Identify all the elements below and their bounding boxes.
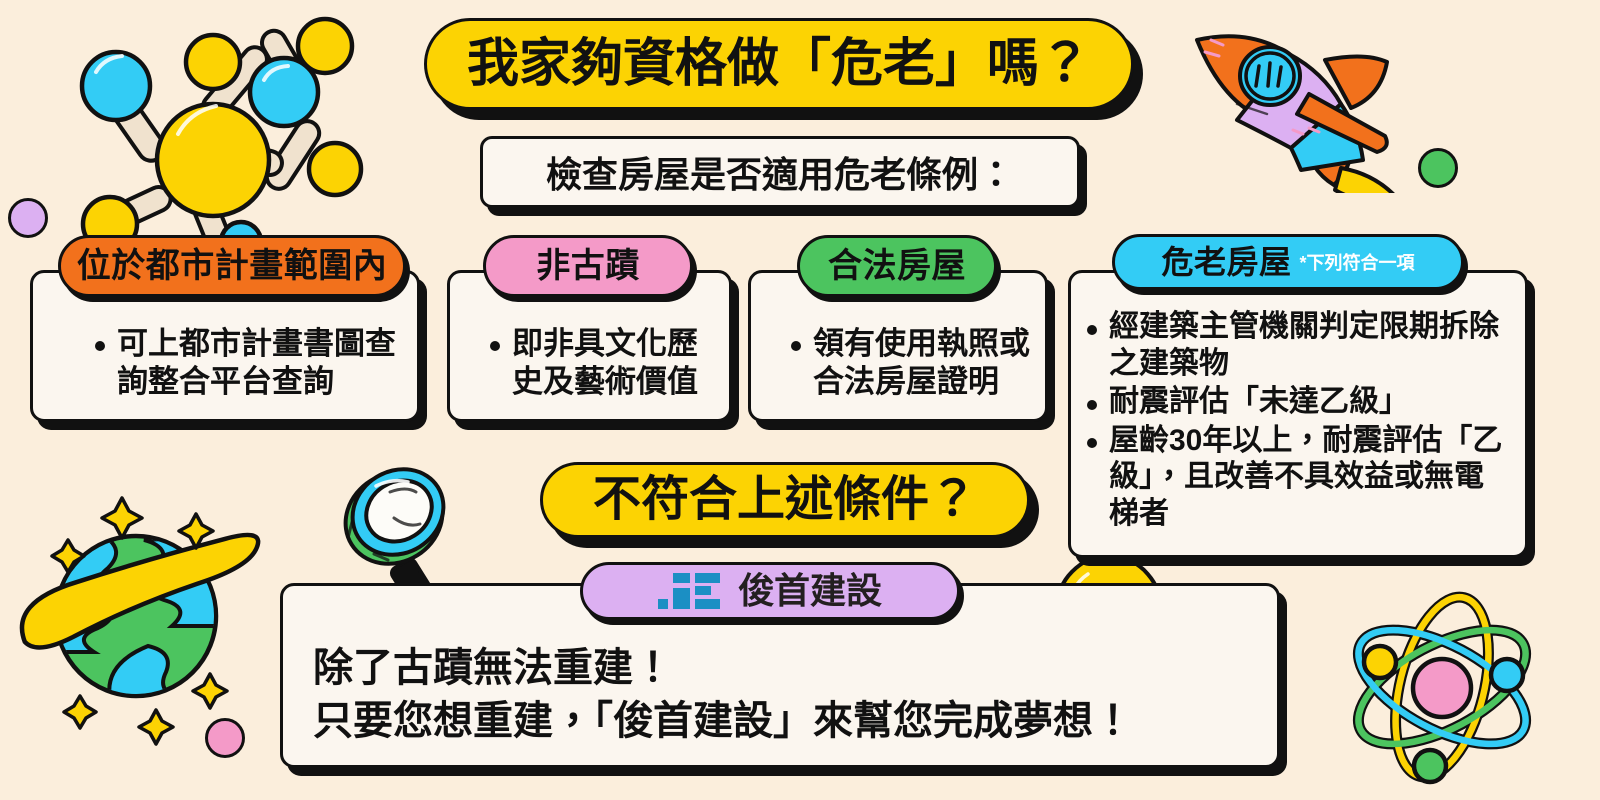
criteria-chip-urban-plan: 位於都市計畫範圍內 (58, 235, 406, 297)
page-title: 我家夠資格做「危老」嗎？ (467, 38, 1091, 90)
criteria-bullet-list: 經建築主管機關判定限期拆除之建築物 耐震評估「未達乙級」 屋齡30年以上，耐震評… (1079, 309, 1511, 533)
criteria-label: 位於都市計畫範圍內 (77, 249, 388, 283)
rocket-illustration (1175, 8, 1400, 193)
list-item: 經建築主管機關判定限期拆除之建築物 (1079, 309, 1511, 382)
green-dot (1418, 148, 1458, 188)
infographic-canvas: 我家夠資格做「危老」嗎？ 檢查房屋是否適用危老條例： 可上都市計畫書圖查詢整合平… (0, 0, 1600, 800)
criteria-note: *下列符合一項 (1300, 249, 1415, 275)
closing-line-1: 除了古蹟無法重建！ (313, 642, 1277, 695)
purple-dot (8, 198, 48, 238)
criteria-chip-not-heritage: 非古蹟 (483, 235, 693, 297)
page-title-banner: 我家夠資格做「危老」嗎？ (424, 18, 1134, 110)
subtitle-text: 檢查房屋是否適用危老條例： (546, 146, 1014, 198)
junshou-logo-icon (658, 573, 720, 609)
cta-question: 不符合上述條件？ (593, 476, 977, 524)
criteria-card-dangerous-old: 經建築主管機關判定限期拆除之建築物 耐震評估「未達乙級」 屋齡30年以上，耐震評… (1068, 270, 1528, 558)
list-item: 可上都市計畫書圖查詢整合平台查詢 (87, 325, 403, 401)
subtitle-box: 檢查房屋是否適用危老條例： (480, 136, 1080, 208)
criteria-bullet-list: 可上都市計畫書圖查詢整合平台查詢 (39, 325, 403, 401)
atom-illustration (1332, 582, 1597, 800)
list-item: 屋齡30年以上，耐震評估「乙級」，且改善不具效益或無電梯者 (1079, 423, 1511, 533)
closing-line-2: 只要您想重建，「俊首建設」來幫您完成夢想！ (313, 695, 1277, 748)
brand-badge[interactable]: 俊首建設 (580, 562, 960, 620)
criteria-chip-dangerous-old: 危老房屋 *下列符合一項 (1112, 234, 1464, 290)
criteria-label: 非古蹟 (536, 249, 640, 283)
criteria-bullet-list: 領有使用執照或合法房屋證明 (755, 325, 1035, 401)
cta-banner: 不符合上述條件？ (540, 462, 1030, 538)
molecule-illustration (38, 2, 388, 252)
criteria-chip-legal-building: 合法房屋 (797, 235, 997, 297)
planet-illustration (18, 478, 308, 758)
list-item: 領有使用執照或合法房屋證明 (783, 325, 1035, 401)
list-item: 耐震評估「未達乙級」 (1079, 384, 1511, 421)
pink-dot (205, 718, 245, 758)
list-item: 即非具文化歷史及藝術價值 (482, 325, 719, 401)
brand-name: 俊首建設 (738, 573, 882, 609)
criteria-bullet-list: 即非具文化歷史及藝術價值 (454, 325, 719, 401)
criteria-label: 合法房屋 (828, 249, 966, 283)
criteria-label: 危老房屋 (1161, 246, 1291, 278)
